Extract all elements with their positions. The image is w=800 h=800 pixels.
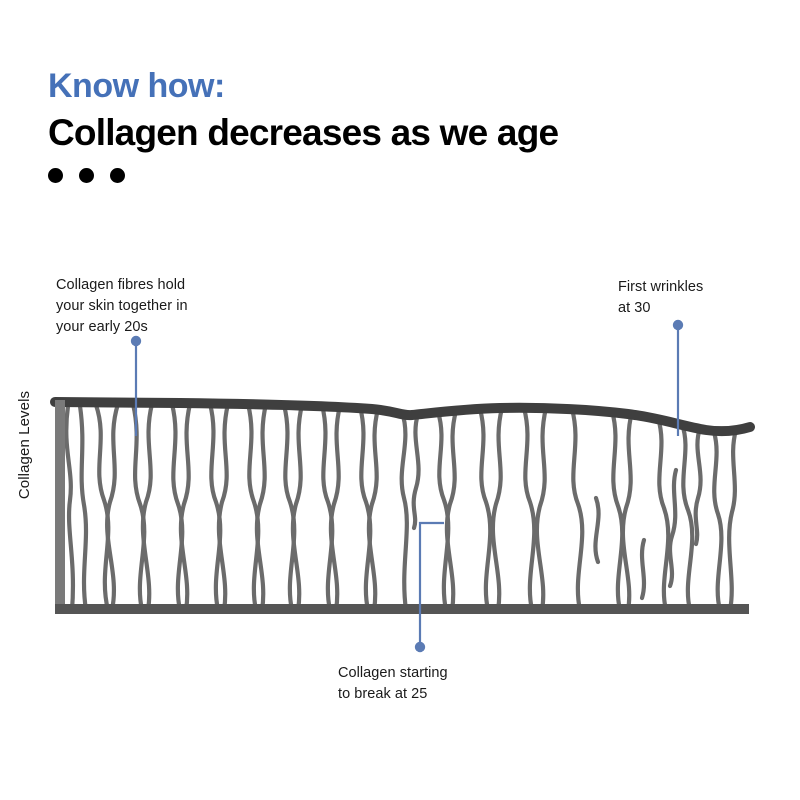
annotation-label-break-at-25: Collagen starting to break at 25 [338,663,538,705]
collagen-diagram: Collagen Levels Collagen fibres hold you… [0,0,800,800]
annotation-pin-early-20s [131,336,141,436]
annotation-label-first-wrinkles: First wrinkles at 30 [618,277,788,319]
y-axis-label: Collagen Levels [10,360,40,530]
y-axis-bar [55,400,65,613]
collagen-fibre-group [66,404,736,610]
skin-surface-line [55,402,750,431]
x-axis-bar [55,604,749,614]
annotation-pin-break-at-25 [415,523,444,652]
annotation-label-early-20s: Collagen fibres hold your skin together … [56,275,266,338]
